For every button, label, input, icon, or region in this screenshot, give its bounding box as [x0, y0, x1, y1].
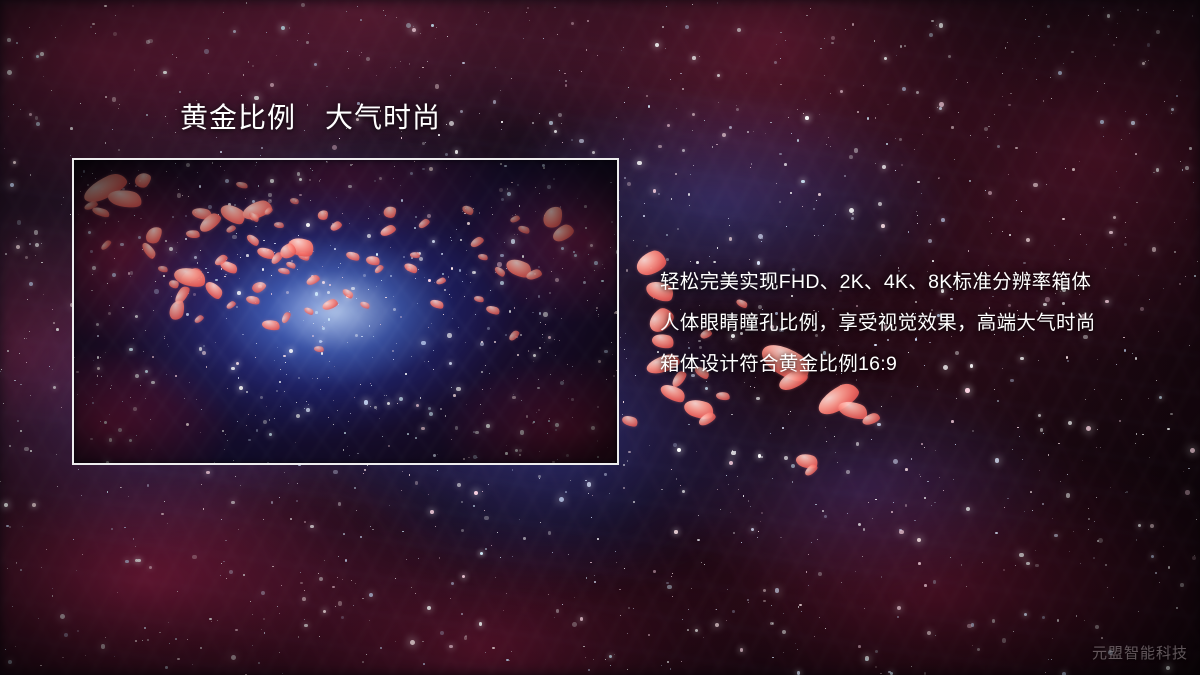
flower-petal: [794, 451, 819, 471]
flower-petal: [697, 411, 718, 428]
flower-petal: [836, 397, 870, 422]
body-text-line-2: 人体眼睛瞳孔比例，享受视觉效果，高端大气时尚: [660, 303, 1096, 344]
flower-petal: [715, 391, 730, 402]
frame-vignette: [74, 160, 617, 463]
flower-petal: [682, 395, 716, 422]
body-text-line-3: 箱体设计符合黄金比例16:9: [660, 344, 1096, 385]
picture-frame: [72, 158, 619, 465]
watermark: 元盟智能科技: [1092, 642, 1188, 663]
flower-petal: [621, 413, 640, 429]
flower-petal: [803, 463, 819, 477]
flower-petal: [861, 412, 881, 427]
page-title: 黄金比例 大气时尚: [180, 101, 441, 134]
body-text-block: 轻松完美实现FHD、2K、4K、8K标准分辨率箱体 人体眼睛瞳孔比例，享受视觉效…: [660, 262, 1096, 385]
body-text-line-1: 轻松完美实现FHD、2K、4K、8K标准分辨率箱体: [660, 262, 1096, 303]
presentation-slide: 黄金比例 大气时尚 轻松完美实现FHD、2K、4K、8K标准分辨率箱体 人体眼睛…: [0, 0, 1200, 675]
